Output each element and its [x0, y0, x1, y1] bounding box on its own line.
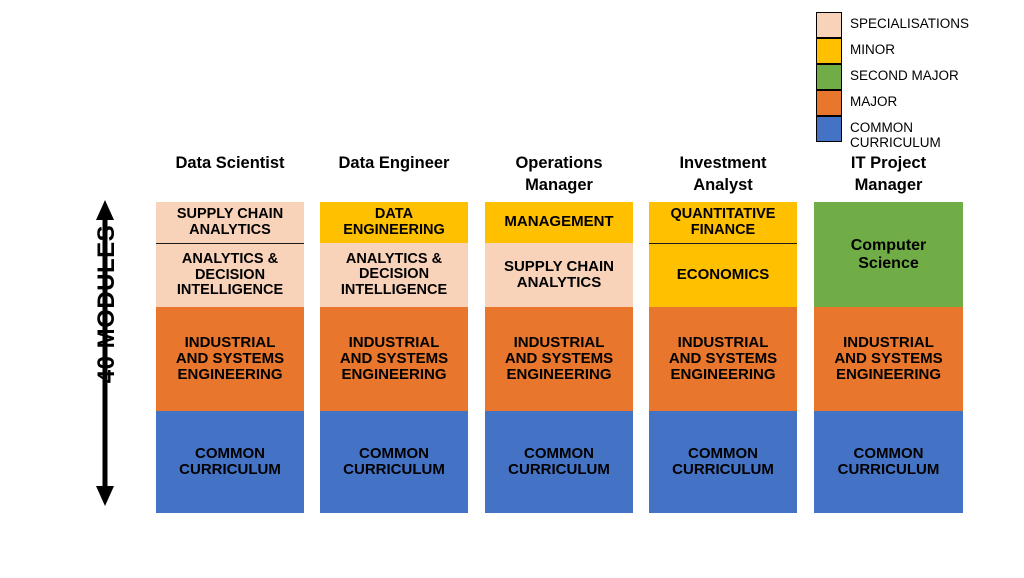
stack-data-scientist: SUPPLY CHAIN ANALYTICSANALYTICS & DECISI… [156, 202, 304, 513]
segment-industrial-and-systems-engineering[interactable]: INDUSTRIAL AND SYSTEMS ENGINEERING [320, 307, 468, 411]
segment-label: COMMON CURRICULUM [179, 446, 281, 478]
legend-swatch-major [816, 90, 842, 116]
column-title-investment-analyst: Investment Analyst [649, 152, 797, 196]
segment-label: DATA ENGINEERING [343, 207, 445, 238]
segment-industrial-and-systems-engineering[interactable]: INDUSTRIAL AND SYSTEMS ENGINEERING [814, 307, 963, 411]
column-title-data-scientist: Data Scientist [156, 152, 304, 174]
stack-it-project-manager: Computer ScienceINDUSTRIAL AND SYSTEMS E… [814, 202, 963, 513]
stack-investment-analyst: QUANTITATIVE FINANCEECONOMICSINDUSTRIAL … [649, 202, 797, 513]
legend-item-minor: MINOR [816, 38, 1016, 64]
column-it-project-manager: IT Project ManagerComputer ScienceINDUST… [814, 152, 963, 196]
column-investment-analyst: Investment AnalystQUANTITATIVE FINANCEEC… [649, 152, 797, 196]
segment-label: QUANTITATIVE FINANCE [671, 207, 776, 238]
legend-item-specialisations: SPECIALISATIONS [816, 12, 1016, 38]
legend-label-common-curriculum: COMMON CURRICULUM [850, 116, 941, 150]
segment-label: SUPPLY CHAIN ANALYTICS [177, 207, 283, 238]
segment-common-curriculum[interactable]: COMMON CURRICULUM [320, 411, 468, 513]
segment-label: COMMON CURRICULUM [508, 446, 610, 478]
segment-label: COMMON CURRICULUM [343, 446, 445, 478]
legend-item-second-major: SECOND MAJOR [816, 64, 1016, 90]
segment-industrial-and-systems-engineering[interactable]: INDUSTRIAL AND SYSTEMS ENGINEERING [649, 307, 797, 411]
segment-common-curriculum[interactable]: COMMON CURRICULUM [649, 411, 797, 513]
segment-common-curriculum[interactable]: COMMON CURRICULUM [485, 411, 633, 513]
segment-label: COMMON CURRICULUM [838, 446, 940, 478]
segment-management[interactable]: MANAGEMENT [485, 202, 633, 243]
segment-label: INDUSTRIAL AND SYSTEMS ENGINEERING [340, 335, 448, 384]
segment-analytics-decision-intelligence[interactable]: ANALYTICS & DECISION INTELLIGENCE [320, 243, 468, 307]
column-data-engineer: Data EngineerDATA ENGINEERINGANALYTICS &… [320, 152, 468, 174]
segment-label: Computer Science [851, 237, 927, 272]
segment-analytics-decision-intelligence[interactable]: ANALYTICS & DECISION INTELLIGENCE [156, 243, 304, 307]
column-operations-manager: Operations ManagerMANAGEMENTSUPPLY CHAIN… [485, 152, 633, 196]
segment-computer-science[interactable]: Computer Science [814, 202, 963, 307]
segment-label: INDUSTRIAL AND SYSTEMS ENGINEERING [834, 335, 942, 384]
legend-label-major: MAJOR [850, 90, 897, 109]
column-data-scientist: Data ScientistSUPPLY CHAIN ANALYTICSANAL… [156, 152, 304, 174]
stack-data-engineer: DATA ENGINEERINGANALYTICS & DECISION INT… [320, 202, 468, 513]
legend-label-second-major: SECOND MAJOR [850, 64, 959, 83]
legend-swatch-common-curriculum [816, 116, 842, 142]
segment-label: ECONOMICS [677, 267, 770, 283]
chart-legend: SPECIALISATIONSMINORSECOND MAJORMAJORCOM… [816, 12, 1016, 142]
axis-label-modules: 40 MODULES [93, 194, 121, 414]
segment-industrial-and-systems-engineering[interactable]: INDUSTRIAL AND SYSTEMS ENGINEERING [156, 307, 304, 411]
column-title-operations-manager: Operations Manager [485, 152, 633, 196]
modules-axis: 40 MODULES [95, 200, 115, 506]
segment-label: MANAGEMENT [504, 214, 613, 230]
legend-label-specialisations: SPECIALISATIONS [850, 12, 969, 31]
segment-supply-chain-analytics[interactable]: SUPPLY CHAIN ANALYTICS [156, 202, 304, 243]
segment-label: ANALYTICS & DECISION INTELLIGENCE [177, 252, 283, 299]
segment-label: COMMON CURRICULUM [672, 446, 774, 478]
segment-quantitative-finance[interactable]: QUANTITATIVE FINANCE [649, 202, 797, 243]
column-title-it-project-manager: IT Project Manager [814, 152, 963, 196]
segment-label: INDUSTRIAL AND SYSTEMS ENGINEERING [505, 335, 613, 384]
segment-economics[interactable]: ECONOMICS [649, 243, 797, 307]
legend-swatch-specialisations [816, 12, 842, 38]
column-title-data-engineer: Data Engineer [320, 152, 468, 174]
legend-item-major: MAJOR [816, 90, 1016, 116]
segment-label: INDUSTRIAL AND SYSTEMS ENGINEERING [669, 335, 777, 384]
segment-common-curriculum[interactable]: COMMON CURRICULUM [814, 411, 963, 513]
segment-common-curriculum[interactable]: COMMON CURRICULUM [156, 411, 304, 513]
segment-industrial-and-systems-engineering[interactable]: INDUSTRIAL AND SYSTEMS ENGINEERING [485, 307, 633, 411]
segment-label: SUPPLY CHAIN ANALYTICS [504, 259, 614, 291]
segment-supply-chain-analytics[interactable]: SUPPLY CHAIN ANALYTICS [485, 243, 633, 307]
legend-swatch-second-major [816, 64, 842, 90]
segment-label: ANALYTICS & DECISION INTELLIGENCE [341, 252, 447, 299]
chart-canvas: SPECIALISATIONSMINORSECOND MAJORMAJORCOM… [0, 0, 1024, 578]
legend-label-minor: MINOR [850, 38, 895, 57]
legend-item-common-curriculum: COMMON CURRICULUM [816, 116, 1016, 142]
legend-swatch-minor [816, 38, 842, 64]
segment-data-engineering[interactable]: DATA ENGINEERING [320, 202, 468, 243]
segment-label: INDUSTRIAL AND SYSTEMS ENGINEERING [176, 335, 284, 384]
stack-operations-manager: MANAGEMENTSUPPLY CHAIN ANALYTICSINDUSTRI… [485, 202, 633, 513]
